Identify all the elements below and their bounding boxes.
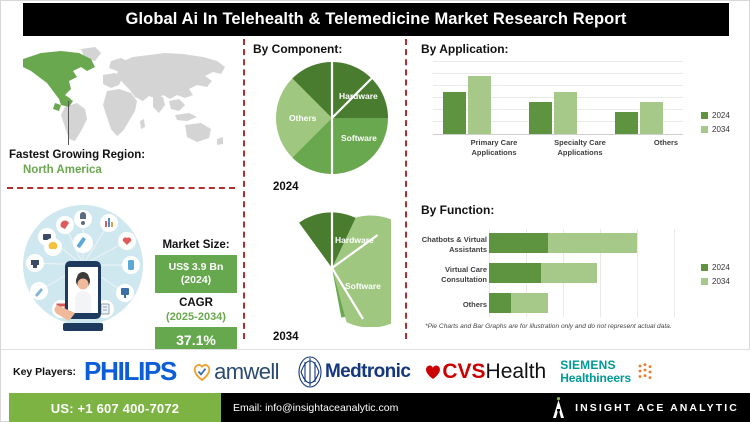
logo-cvs-health: CVSHealth	[424, 360, 546, 384]
market-size-value-box: US$ 3.9 Bn (2024)	[155, 255, 237, 293]
pie-chart-2034: Hardware Software Others	[273, 209, 391, 327]
gridline	[637, 229, 638, 317]
legend-swatch-2034	[701, 278, 708, 285]
bar-group-primary-care	[443, 61, 495, 134]
logo-amwell: amwell	[190, 359, 279, 385]
func-virtual-care-2034	[541, 263, 597, 283]
func-virtual-care-2024	[489, 263, 541, 283]
footer-black-bar: Email: info@insightaceanalytic.com INSIG…	[221, 393, 750, 422]
vertical-divider-right	[405, 39, 407, 339]
func-category-others: Others	[409, 300, 487, 310]
func-chatbots-2034	[548, 233, 637, 253]
header-bar: Global Ai In Telehealth & Telemedicine M…	[23, 3, 729, 36]
pie-2034-label-others: Others	[287, 287, 314, 297]
legend-item-2024: 2024	[701, 263, 730, 272]
logo-medtronic-text: Medtronic	[325, 361, 410, 383]
x-axis	[433, 134, 683, 135]
gridline	[674, 229, 675, 317]
footer-bar: US: +1 607 400-7072 Email: info@insighta…	[1, 393, 750, 422]
logo-amwell-text: amwell	[214, 359, 279, 385]
pie-2024-label-others: Others	[289, 113, 316, 123]
panel-title-function: By Function:	[421, 203, 494, 217]
horizontal-divider	[7, 187, 235, 189]
bar-others-2024	[615, 112, 638, 134]
bar-group-others	[615, 61, 667, 134]
bar-specialty-care-2024	[529, 102, 552, 134]
app-category-primary-care: Primary Care Applications	[451, 138, 537, 158]
bar-primary-care-2034	[468, 76, 491, 134]
legend-label-2024: 2024	[712, 263, 730, 272]
pie-2034-label-hardware: Hardware	[335, 235, 374, 245]
legend-label-2034: 2034	[712, 277, 730, 286]
cagr-years: (2025-2034)	[153, 311, 239, 323]
legend-swatch-2034	[701, 126, 708, 133]
vertical-divider-left	[243, 39, 245, 339]
fastest-growing-region-value: North America	[23, 164, 102, 176]
page-title: Global Ai In Telehealth & Telemedicine M…	[126, 10, 627, 29]
legend-swatch-2024	[701, 112, 708, 119]
logo-philips: PHILIPS	[84, 356, 176, 387]
footer-phone-box: US: +1 607 400-7072	[9, 393, 221, 422]
map-pointer-line	[68, 101, 69, 145]
function-chart-legend: 2024 2034	[701, 263, 730, 291]
logo-cvs-text: CVS	[442, 360, 485, 384]
function-bar-chart	[489, 229, 674, 317]
legend-item-2024: 2024	[701, 111, 730, 120]
logo-healthineers-text: Healthineers	[560, 372, 631, 385]
legend-item-2034: 2034	[701, 125, 730, 134]
market-size-year: (2024)	[181, 274, 211, 286]
cagr-label: CAGR	[153, 297, 239, 309]
legend-swatch-2024	[701, 264, 708, 271]
footer-email[interactable]: Email: info@insightaceanalytic.com	[233, 402, 398, 414]
market-size-label: Market Size:	[153, 239, 239, 251]
logo-cvs-health-text: Health	[486, 360, 547, 384]
pie-2034-label-software: Software	[345, 281, 381, 291]
bar-group-specialty-care	[529, 61, 581, 134]
insight-ace-logo-icon	[550, 397, 567, 419]
func-category-chatbots: Chatbots & Virtual Assistants	[409, 235, 487, 255]
fastest-growing-region-label: Fastest Growing Region:	[9, 149, 145, 161]
chart-disclaimer: *Pie Charts and Bar Graphs are for illus…	[425, 323, 672, 330]
pie-2034-year: 2034	[273, 331, 299, 343]
key-players-strip: Key Players: PHILIPS amwell Medtronic CV…	[1, 349, 750, 393]
legend-label-2024: 2024	[712, 111, 730, 120]
bar-specialty-care-2034	[554, 92, 577, 134]
footer-brand-wrap: INSIGHT ACE ANALYTIC	[550, 393, 739, 422]
world-map-icon	[7, 41, 235, 151]
func-category-virtual-care: Virtual Care Consultation	[409, 265, 487, 285]
footer-phone[interactable]: US: +1 607 400-7072	[51, 401, 179, 416]
pie-2024-year: 2024	[273, 181, 299, 193]
func-chatbots-2024	[489, 233, 548, 253]
footer-brand: INSIGHT ACE ANALYTIC	[575, 402, 739, 414]
panel-title-component: By Component:	[253, 42, 342, 56]
func-others-2034	[511, 293, 548, 313]
logo-siemens-healthineers: SIEMENS Healthineers	[560, 359, 631, 384]
legend-item-2034: 2034	[701, 277, 730, 286]
app-category-specialty-care: Specialty Care Applications	[537, 138, 623, 158]
bar-primary-care-2024	[443, 92, 466, 134]
bar-others-2034	[640, 102, 663, 134]
application-bar-chart	[433, 61, 683, 134]
pie-2024-label-hardware: Hardware	[339, 91, 378, 101]
pie-chart-2024: Hardware Software Others	[273, 59, 391, 177]
siemens-dots-icon	[637, 363, 653, 381]
logo-medtronic: Medtronic	[295, 356, 410, 388]
key-players-label: Key Players:	[13, 366, 76, 378]
pie-2024-label-software: Software	[341, 133, 377, 143]
cvs-heart-icon	[424, 363, 442, 380]
app-category-others: Others	[623, 138, 709, 148]
market-size-value: US$ 3.9 Bn	[169, 261, 224, 273]
legend-label-2034: 2034	[712, 125, 730, 134]
telehealth-illustration-icon	[13, 197, 153, 337]
panel-title-application: By Application:	[421, 42, 509, 56]
left-column: Fastest Growing Region: North America	[1, 39, 239, 346]
logo-siemens-text: SIEMENS	[560, 359, 631, 372]
amwell-heart-icon	[190, 360, 214, 384]
func-others-2024	[489, 293, 511, 313]
medtronic-mark-icon	[295, 356, 325, 388]
application-chart-legend: 2024 2034	[701, 111, 730, 139]
infographic-root: Global Ai In Telehealth & Telemedicine M…	[0, 0, 750, 422]
